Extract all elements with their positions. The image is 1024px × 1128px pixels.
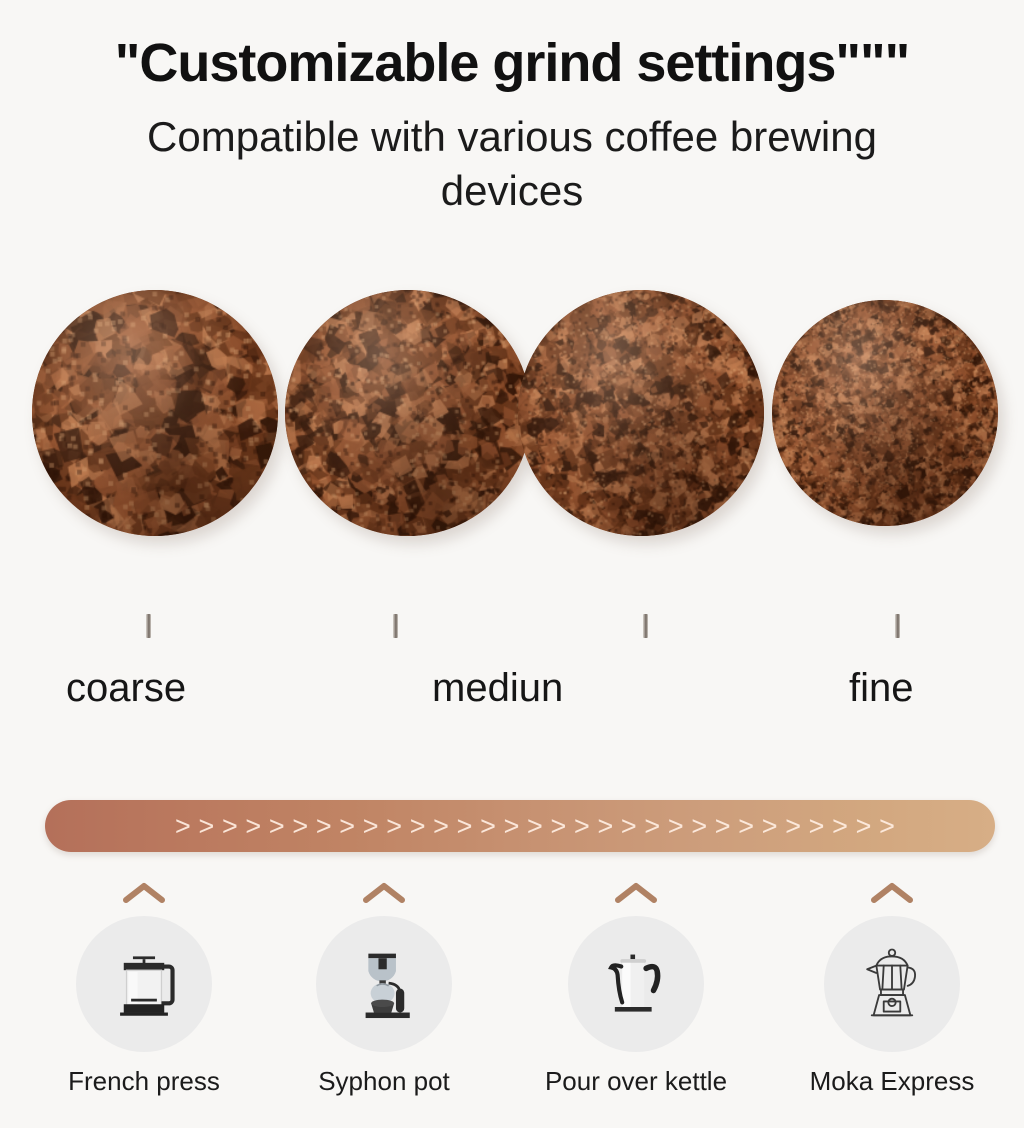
grind-tick-row — [0, 614, 1024, 640]
tick-fine — [895, 614, 900, 638]
chevron-right-icon: > — [785, 813, 801, 840]
moka-express-icon — [824, 916, 960, 1052]
chevron-right-icon: > — [551, 813, 567, 840]
chevron-right-icon: > — [856, 813, 872, 840]
syphon-pot-icon — [316, 916, 452, 1052]
chevron-right-icon: > — [809, 813, 825, 840]
chevron-up-icon — [274, 880, 494, 910]
chevron-right-icon: > — [715, 813, 731, 840]
chevron-right-icon: > — [339, 813, 355, 840]
device-item-pour-over-kettle[interactable]: Pour over kettle — [526, 880, 746, 1097]
grind-circle — [285, 290, 531, 536]
chevron-up-icon — [526, 880, 746, 910]
chevron-right-icon: > — [410, 813, 426, 840]
chevron-right-icon: > — [762, 813, 778, 840]
chevron-right-icon: > — [292, 813, 308, 840]
french-press-icon — [76, 916, 212, 1052]
chevron-right-icon: > — [363, 813, 379, 840]
chevron-right-icon: > — [245, 813, 261, 840]
page-title: "Customizable grind settings""" — [0, 0, 1024, 90]
chevron-right-icon: > — [175, 813, 191, 840]
tick-medium-coarse — [393, 614, 398, 638]
chevron-right-icon: > — [457, 813, 473, 840]
device-label: French press — [34, 1066, 254, 1097]
grind-label-fine: fine — [849, 666, 914, 711]
chevron-up-icon — [34, 880, 254, 910]
medium-coarse-grind-sample — [285, 290, 531, 536]
chevron-right-icon: > — [832, 813, 848, 840]
chevron-up-icon — [782, 880, 1002, 910]
medium-fine-grind-sample — [518, 290, 764, 536]
chevron-right-icon: > — [527, 813, 543, 840]
chevron-right-icon: > — [597, 813, 613, 840]
device-item-french-press[interactable]: French press — [34, 880, 254, 1097]
grind-label-coarse: coarse — [66, 666, 186, 711]
grind-shading — [772, 300, 998, 526]
brewing-device-row: French pressSyphon potPour over kettleMo… — [0, 880, 1024, 1128]
chevron-right-icon: > — [433, 813, 449, 840]
chevron-right-icon: > — [668, 813, 684, 840]
chevron-right-icon: > — [480, 813, 496, 840]
grind-shading — [518, 290, 764, 536]
grind-label-row: coarsemediunfine — [0, 666, 1024, 726]
device-label: Pour over kettle — [526, 1066, 746, 1097]
chevron-right-icon: > — [316, 813, 332, 840]
page-subtitle: Compatible with various coffee brewing d… — [102, 90, 922, 218]
grind-coarseness-gradient-bar[interactable]: >>>>>>>>>>>>>>>>>>>>>>>>>>>>>>> — [45, 800, 995, 852]
grind-shading — [285, 290, 531, 536]
device-item-syphon-pot[interactable]: Syphon pot — [274, 880, 494, 1097]
coarse-grind-sample — [32, 290, 278, 536]
chevron-right-icon: > — [738, 813, 754, 840]
chevron-right-icon: > — [879, 813, 895, 840]
chevron-right-icon: > — [386, 813, 402, 840]
gradient-bar-arrows: >>>>>>>>>>>>>>>>>>>>>>>>>>>>>>> — [175, 800, 895, 852]
chevron-right-icon: > — [621, 813, 637, 840]
chevron-right-icon: > — [198, 813, 214, 840]
device-label: Syphon pot — [274, 1066, 494, 1097]
chevron-right-icon: > — [691, 813, 707, 840]
grind-shading — [32, 290, 278, 536]
tick-medium-fine — [643, 614, 648, 638]
device-item-moka-express[interactable]: Moka Express — [782, 880, 1002, 1097]
chevron-right-icon: > — [269, 813, 285, 840]
tick-coarse — [146, 614, 151, 638]
device-label: Moka Express — [782, 1066, 1002, 1097]
grind-sample-row — [0, 290, 1024, 550]
chevron-right-icon: > — [644, 813, 660, 840]
grind-label-mediun: mediun — [432, 666, 563, 711]
fine-grind-sample — [772, 300, 998, 526]
grind-circle — [32, 290, 278, 536]
chevron-right-icon: > — [504, 813, 520, 840]
grind-circle — [772, 300, 998, 526]
chevron-right-icon: > — [574, 813, 590, 840]
chevron-right-icon: > — [222, 813, 238, 840]
grind-circle — [518, 290, 764, 536]
header: "Customizable grind settings""" Compatib… — [0, 0, 1024, 218]
pour-over-kettle-icon — [568, 916, 704, 1052]
